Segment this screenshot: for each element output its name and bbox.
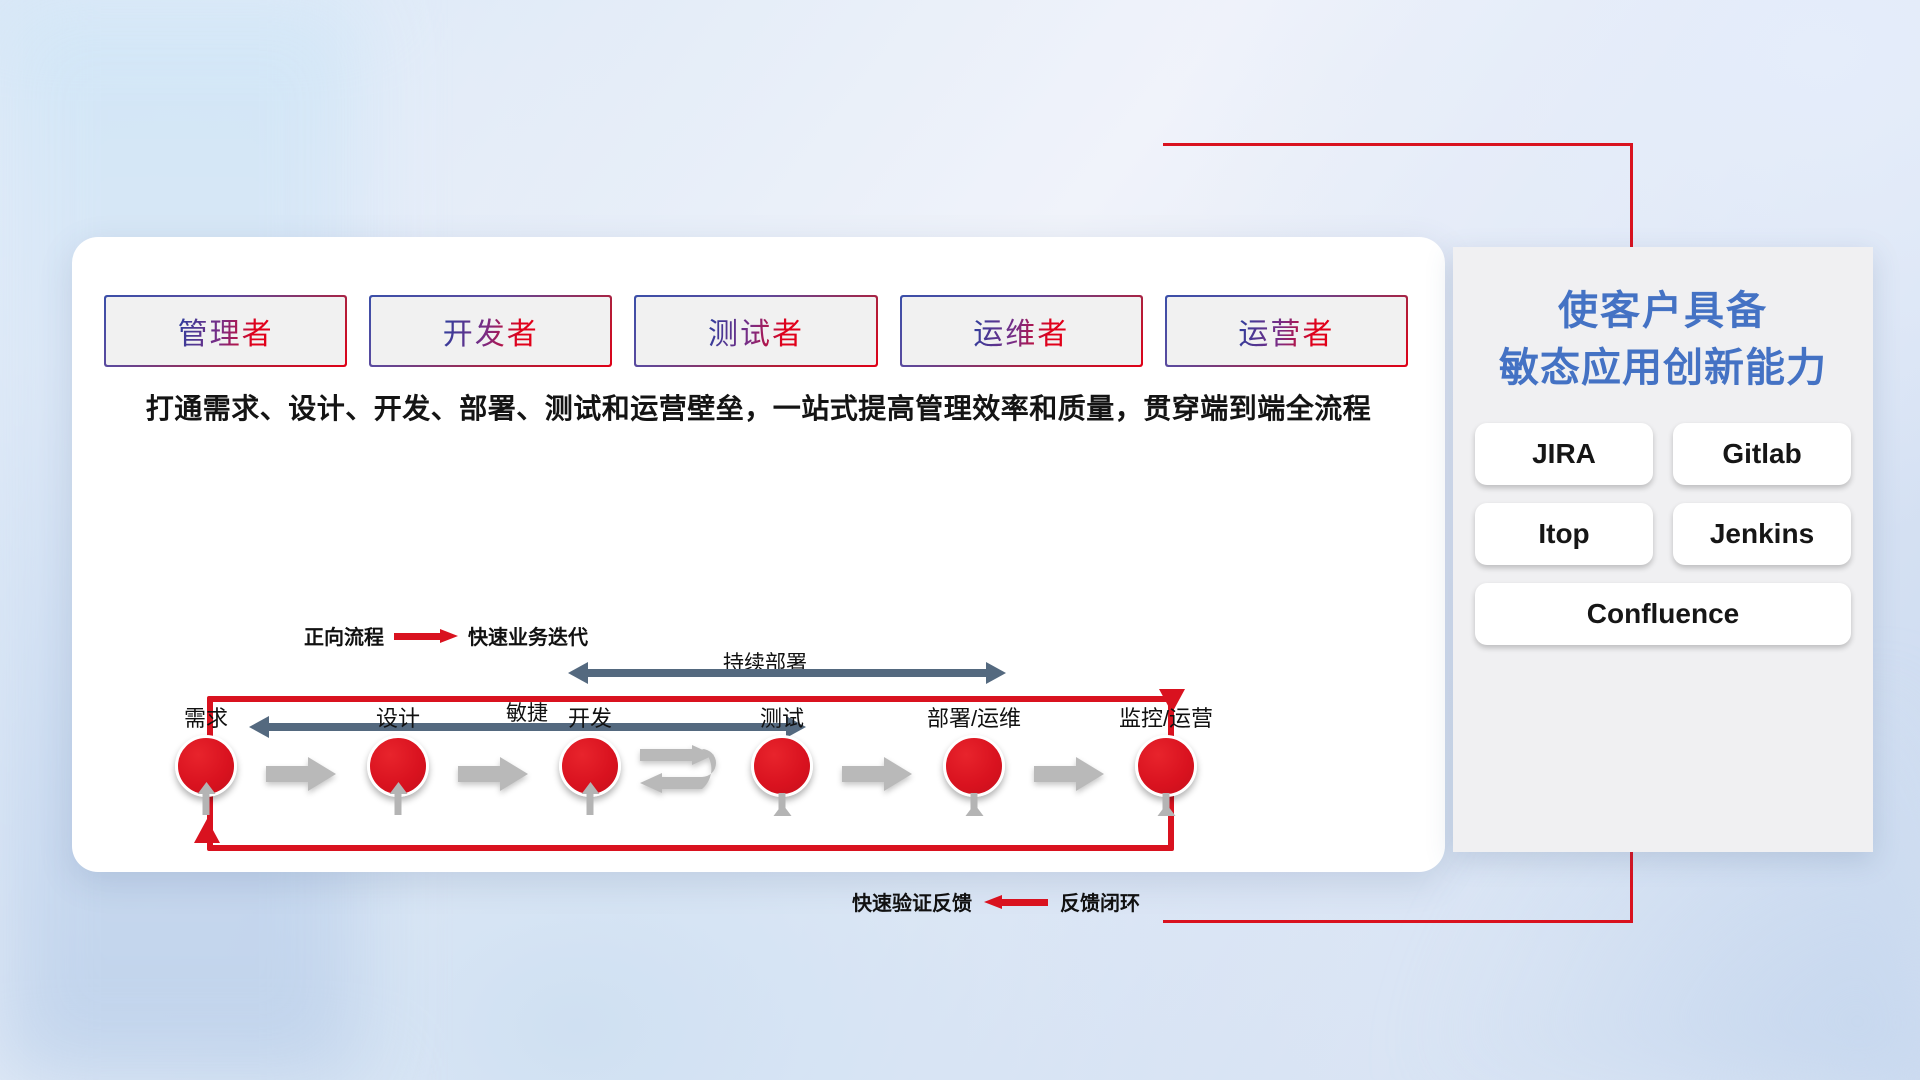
pipeline-node-dot [943, 735, 1005, 797]
legend-feedback-target-label: 快速验证反馈 [852, 887, 972, 916]
tool-chip-gitlab[interactable]: Gitlab [1673, 423, 1851, 485]
role-button-label: 测试者 [708, 309, 804, 353]
chevron-arrow-right-icon [842, 757, 912, 791]
arrow-head-right-icon [986, 662, 1006, 684]
legend-feedback-loop: 快速验证反馈 反馈闭环 [852, 887, 1140, 916]
tool-chip-jenkins[interactable]: Jenkins [1673, 503, 1851, 565]
pipeline-node-stem [203, 793, 210, 815]
pipeline-node-label: 监控/运营 [1119, 701, 1213, 733]
loop-back-arrow-icon [640, 745, 732, 803]
role-button-operations[interactable]: 运营者 [1167, 297, 1406, 365]
pipeline-node-label: 设计 [376, 701, 420, 733]
chevron-arrow-right-icon [1034, 757, 1104, 791]
arrow-right-red-icon [394, 629, 458, 643]
legend-forward-flow: 正向流程 快速业务迭代 [304, 621, 588, 650]
legend-feedback-source-label: 反馈闭环 [1060, 887, 1140, 916]
chevron-arrow-right-icon [266, 757, 336, 791]
pipeline-node-label: 开发 [568, 701, 612, 733]
pipeline-node-dot [1135, 735, 1197, 797]
side-panel-title-line1: 使客户具备 [1453, 283, 1873, 340]
role-button-tester[interactable]: 测试者 [636, 297, 875, 365]
side-panel: 使客户具备 敏态应用创新能力 JIRA Gitlab Itop Jenkins … [1453, 247, 1873, 852]
pipeline-node-stem [971, 793, 978, 815]
role-button-row: 管理者 开发者 测试者 运维者 运营者 [106, 297, 1406, 365]
pipeline-node-monitor-operations[interactable]: 监控/运营 [1130, 735, 1202, 797]
role-button-ops[interactable]: 运维者 [902, 297, 1141, 365]
pipeline-node-label: 部署/运维 [927, 701, 1021, 733]
main-card: 管理者 开发者 测试者 运维者 运营者 打通需求、设计、开发、部署、测试和运营壁… [72, 237, 1445, 872]
pipeline-node-stem [395, 793, 402, 815]
pipeline-node-stem [1163, 793, 1170, 815]
pipeline-node-stem [779, 793, 786, 815]
tool-chip-grid: JIRA Gitlab Itop Jenkins Confluence [1467, 423, 1859, 645]
tagline-text: 打通需求、设计、开发、部署、测试和运营壁垒，一站式提高管理效率和质量，贯穿端到端… [72, 387, 1445, 427]
pipeline-node-testing[interactable]: 测试 [746, 735, 818, 797]
double-arrow-continuous-deployment-icon [568, 662, 1006, 684]
arrow-left-red-icon [984, 895, 1048, 909]
pipeline-node-label: 需求 [184, 701, 228, 733]
pipeline-node-dot [751, 735, 813, 797]
pipeline: 需求 设计 开发 [170, 735, 1245, 825]
side-panel-title: 使客户具备 敏态应用创新能力 [1453, 283, 1873, 397]
role-button-label: 运维者 [973, 309, 1069, 353]
role-button-label: 开发者 [443, 309, 539, 353]
pipeline-node-design[interactable]: 设计 [362, 735, 434, 797]
tool-chip-itop[interactable]: Itop [1475, 503, 1653, 565]
pipeline-node-deploy-ops[interactable]: 部署/运维 [938, 735, 1010, 797]
chevron-arrow-right-icon [458, 757, 528, 791]
role-button-manager[interactable]: 管理者 [106, 297, 345, 365]
tool-chip-confluence[interactable]: Confluence [1475, 583, 1851, 645]
role-button-label: 运营者 [1238, 309, 1334, 353]
legend-forward-target-label: 快速业务迭代 [468, 621, 588, 650]
pipeline-node-requirement[interactable]: 需求 [170, 735, 242, 797]
role-button-developer[interactable]: 开发者 [371, 297, 610, 365]
role-button-label: 管理者 [178, 309, 274, 353]
side-panel-title-line2: 敏态应用创新能力 [1453, 340, 1873, 397]
slide-canvas: 管理者 开发者 测试者 运维者 运营者 打通需求、设计、开发、部署、测试和运营壁… [0, 0, 1920, 1080]
arrow-bar [585, 669, 989, 677]
pipeline-node-stem [587, 793, 594, 815]
tool-chip-jira[interactable]: JIRA [1475, 423, 1653, 485]
legend-forward-source-label: 正向流程 [304, 621, 384, 650]
pipeline-node-development[interactable]: 开发 [554, 735, 626, 797]
pipeline-node-label: 测试 [760, 701, 804, 733]
